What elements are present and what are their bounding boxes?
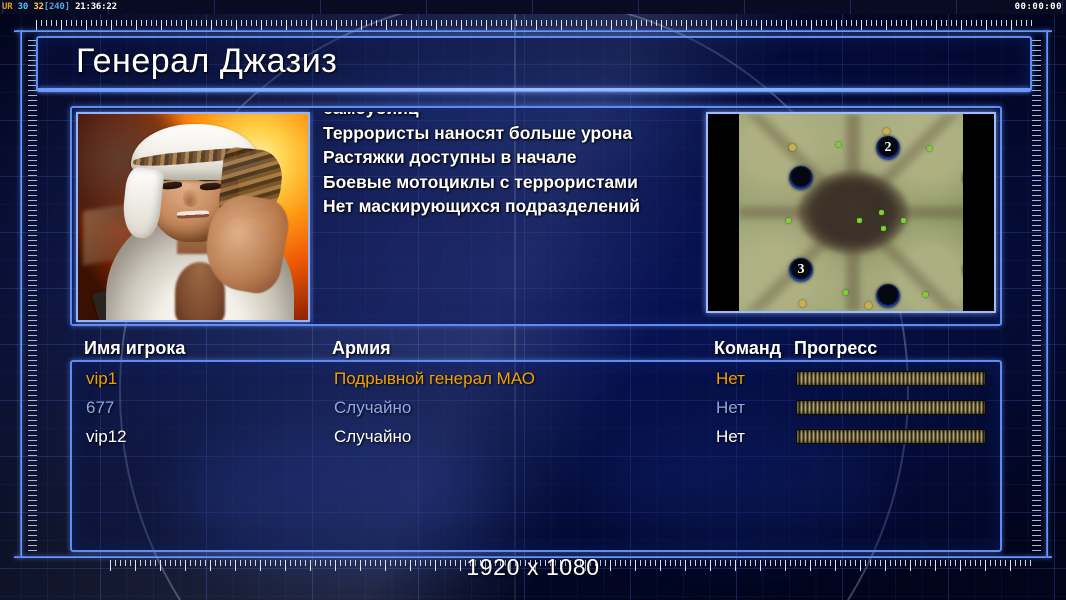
player-army: Случайно bbox=[334, 395, 411, 421]
player-list-panel: vip1Подрывной генерал МАОНет677СлучайноН… bbox=[70, 360, 1002, 552]
map-supply-dock bbox=[901, 218, 906, 223]
map-oil-derrick bbox=[865, 302, 872, 309]
map-terrain: 231 bbox=[739, 114, 967, 311]
description-line: Боевые мотоциклы с террористами bbox=[316, 170, 688, 195]
column-header-army: Армия bbox=[332, 338, 391, 359]
stat-label-ur: UR bbox=[2, 2, 12, 12]
player-team: Нет bbox=[716, 424, 745, 450]
game-screen: UR 30 32[240] 21:36:22 00:00:00 Генерал … bbox=[0, 0, 1066, 600]
frame-top-line bbox=[14, 30, 1052, 32]
resolution-label: 1920 x 1080 bbox=[0, 554, 1066, 581]
map-supply-dock bbox=[857, 218, 862, 223]
player-name: vip12 bbox=[86, 424, 127, 450]
general-description: самоубийцТеррористы наносят больше урона… bbox=[316, 112, 688, 322]
player-name: 677 bbox=[86, 395, 114, 421]
stat-value-b: 32 bbox=[33, 2, 43, 12]
topbar-grid bbox=[0, 0, 1066, 14]
stat-session-time: 21:36:22 bbox=[75, 2, 117, 12]
performance-stats: UR 30 32[240] 21:36:22 bbox=[2, 0, 117, 14]
player-row[interactable]: 677СлучайноНет bbox=[72, 395, 1000, 421]
ruler-top bbox=[36, 20, 1032, 31]
description-line: Террористы наносят больше урона bbox=[316, 121, 688, 146]
description-line: Нет маскирующихся подразделений bbox=[316, 194, 688, 219]
portrait-nose bbox=[183, 188, 199, 207]
player-progress-bar bbox=[796, 371, 986, 386]
game-clock: 00:00:00 bbox=[1015, 0, 1062, 14]
map-supply-dock bbox=[836, 142, 841, 147]
frame-left-line bbox=[20, 30, 22, 558]
player-row[interactable]: vip1Подрывной генерал МАОНет bbox=[72, 366, 1000, 392]
stat-value-a: 30 bbox=[18, 2, 28, 12]
portrait-mouth bbox=[177, 210, 210, 219]
player-progress-bar bbox=[796, 429, 986, 444]
map-supply-dock bbox=[879, 210, 884, 215]
page-title: Генерал Джазиз bbox=[76, 42, 337, 81]
player-name: vip1 bbox=[86, 366, 117, 392]
player-team: Нет bbox=[716, 395, 745, 421]
general-info-panel: самоубийцТеррористы наносят больше урона… bbox=[70, 106, 1002, 326]
system-topbar: UR 30 32[240] 21:36:22 00:00:00 bbox=[0, 0, 1066, 14]
description-list: самоубийцТеррористы наносят больше урона… bbox=[316, 112, 688, 219]
player-progress-bar bbox=[796, 400, 986, 415]
map-center-basin bbox=[798, 173, 907, 252]
description-line: Растяжки доступны в начале bbox=[316, 145, 688, 170]
description-line: самоубийц bbox=[316, 112, 688, 121]
stat-value-c: [240] bbox=[44, 2, 70, 12]
map-supply-dock bbox=[843, 290, 848, 295]
title-underline bbox=[38, 88, 1030, 91]
general-portrait bbox=[76, 112, 310, 322]
title-panel: Генерал Джазиз bbox=[36, 36, 1032, 92]
column-header-player-name: Имя игрока bbox=[84, 338, 185, 359]
map-supply-dock bbox=[927, 146, 932, 151]
map-supply-dock bbox=[923, 292, 928, 297]
map-start-position[interactable] bbox=[876, 284, 900, 308]
player-row[interactable]: vip12СлучайноНет bbox=[72, 424, 1000, 450]
player-army: Подрывной генерал МАО bbox=[334, 366, 535, 392]
map-oil-derrick bbox=[883, 128, 890, 135]
map-oil-derrick bbox=[789, 144, 796, 151]
map-supply-dock bbox=[881, 226, 886, 231]
player-army: Случайно bbox=[334, 424, 411, 450]
column-header-progress: Прогресс bbox=[794, 338, 877, 359]
map-preview[interactable]: 231 bbox=[706, 112, 996, 313]
map-start-position[interactable] bbox=[789, 166, 813, 190]
frame-right-line bbox=[1046, 30, 1048, 558]
ruler-right bbox=[1032, 40, 1041, 552]
map-supply-dock bbox=[786, 218, 791, 223]
map-letterbox-right bbox=[963, 114, 994, 311]
map-oil-derrick bbox=[799, 300, 806, 307]
map-start-position[interactable]: 2 bbox=[876, 136, 900, 160]
ruler-left bbox=[28, 40, 37, 552]
map-start-position[interactable]: 3 bbox=[789, 258, 813, 282]
map-letterbox-left bbox=[708, 114, 739, 311]
column-header-team: Команд bbox=[714, 338, 781, 359]
player-team: Нет bbox=[716, 366, 745, 392]
